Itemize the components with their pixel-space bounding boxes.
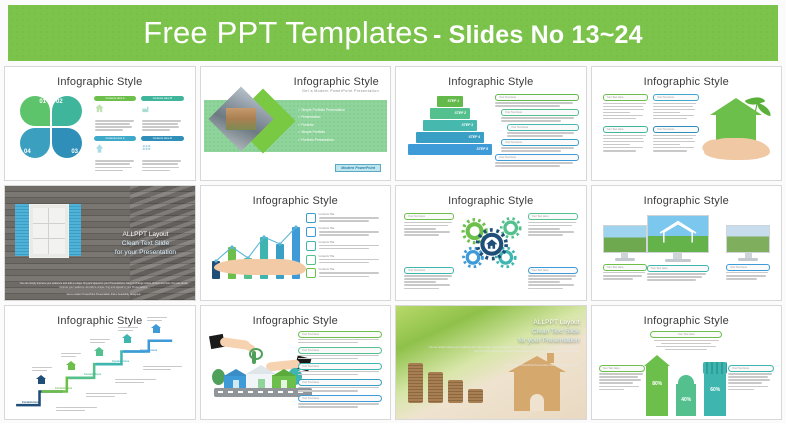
slide-11-overlay-footer: Get a modern PowerPoint Presentation tha… bbox=[426, 364, 580, 368]
pyramid-step-4: STEP 4 bbox=[416, 132, 484, 143]
slide-11-overlay-heading: ALLPPT Layout Clean Text Slide for your … bbox=[470, 318, 580, 345]
row-head: Your Text Here bbox=[501, 109, 579, 116]
pyramid-diagram: STEP 1 STEP 2 STEP 3 STEP 4 STEP 5 bbox=[407, 96, 493, 168]
slide-1-card[interactable]: Contents Here B bbox=[141, 96, 183, 132]
monitor-center[interactable]: Your Text Here bbox=[647, 215, 709, 282]
card-head: Contents Here C bbox=[94, 136, 136, 141]
step-1-body-lines bbox=[56, 407, 100, 413]
hand-with-eco-house bbox=[700, 96, 774, 162]
slide-thumbnail-12[interactable]: Infographic Style Your Text Here 80% 40% bbox=[591, 305, 783, 420]
step-1-label: Contents Here bbox=[22, 401, 39, 404]
quadrant-04-number: 04 bbox=[24, 149, 31, 155]
slide-thumbnail-6[interactable]: Infographic Style bbox=[200, 185, 392, 300]
slide-6-canvas: Infographic Style bbox=[204, 189, 388, 296]
row-head: Contents Title bbox=[319, 227, 383, 230]
window-panes bbox=[33, 208, 65, 254]
checklist-item: ✓ Simple Portfolio bbox=[298, 130, 382, 134]
slide-3-row[interactable]: Your Text Here bbox=[507, 124, 579, 137]
printer-icon bbox=[306, 213, 316, 223]
bar-percent-3: 60% bbox=[704, 387, 726, 393]
card-head: Your Text Here bbox=[528, 267, 578, 274]
chart-icon bbox=[306, 268, 316, 278]
slide-5-canvas: ALLPPT Layout Clean Text Slide for your … bbox=[5, 186, 195, 299]
card-head: Contents Here A bbox=[94, 96, 136, 101]
slide-thumbnail-2[interactable]: Infographic Style Get a Modern PowerPoin… bbox=[200, 66, 392, 181]
row-head: Your Text Here bbox=[298, 395, 382, 402]
slide-6-title: Infographic Style bbox=[204, 195, 388, 207]
slide-10-row[interactable]: Your Text Here bbox=[298, 363, 382, 376]
monitor-left[interactable]: Your Text Here bbox=[603, 225, 647, 281]
slide-thumbnail-8[interactable]: Infographic Style Your Text Here bbox=[591, 185, 783, 300]
pyramid-step-5: STEP 5 bbox=[408, 144, 492, 155]
row-head: Your Text Here bbox=[298, 331, 382, 338]
card-head: Your Text Here bbox=[404, 267, 454, 274]
overlay-line-1: ALLPPT Layout bbox=[470, 318, 580, 327]
card-head: Your Text Here bbox=[653, 126, 699, 133]
step-4-label: Contents Here bbox=[112, 360, 129, 363]
monitor-caption-head: Your Text Here bbox=[647, 265, 709, 272]
card-head: Contents Here B bbox=[141, 96, 183, 101]
card-head: Contents Here D bbox=[141, 136, 183, 141]
row-head: Contents Title bbox=[319, 213, 383, 216]
header-banner: Free PPT Templates - Slides No 13~24 bbox=[8, 5, 778, 61]
row-head: Your Text Here bbox=[507, 124, 579, 131]
slide-4-card[interactable]: Your Text Here bbox=[653, 126, 699, 153]
checklist-item: ✓ Simple Portfolio Presentation bbox=[298, 108, 382, 112]
slide-1-card[interactable]: Contents Here A bbox=[94, 96, 136, 132]
slide-6-row-list: Contents Title Contents Title bbox=[306, 213, 382, 282]
overlay-line-3: for your Presentation bbox=[470, 336, 580, 345]
house-icon-step-1 bbox=[36, 375, 47, 383]
row-head: Your Text Here bbox=[298, 363, 382, 370]
slide-10-row[interactable]: Your Text Here bbox=[298, 347, 382, 360]
row-head: Your Text Here bbox=[501, 139, 579, 146]
slide-4-title: Infographic Style bbox=[595, 76, 779, 88]
factory-icon bbox=[141, 103, 152, 114]
overlay-line-3: for your Presentation bbox=[103, 248, 189, 257]
row-head: Your Text Here bbox=[298, 347, 382, 354]
row-head: Contents Title bbox=[319, 268, 383, 271]
slide-7-card[interactable]: Your Text Here bbox=[528, 213, 578, 237]
country-house-photo bbox=[726, 225, 770, 253]
hands-exchanging-house-key bbox=[208, 331, 312, 405]
slide-7-card[interactable]: Your Text Here bbox=[404, 267, 454, 291]
slide-3-row[interactable]: Your Text Here bbox=[495, 94, 579, 107]
slide-9-canvas: Infographic Style Contents Here Contents… bbox=[8, 309, 192, 416]
slide-thumbnail-7[interactable]: Infographic Style bbox=[395, 185, 587, 300]
quadrant-03: 03 bbox=[52, 128, 82, 158]
window-frame bbox=[29, 204, 69, 258]
monitor-caption-head: Your Text Here bbox=[726, 264, 770, 271]
slide-3-row[interactable]: Your Text Here bbox=[495, 154, 579, 167]
slide-7-canvas: Infographic Style bbox=[399, 189, 583, 296]
checklist-item: ✓ Portfolio bbox=[298, 123, 382, 127]
step-2-caption-lines bbox=[61, 353, 83, 359]
document-icon bbox=[306, 255, 316, 265]
modern-powerpoint-badge: Modern PowerPoint bbox=[335, 164, 381, 172]
card-head: Your Text Here bbox=[603, 94, 649, 101]
row-head: Your Text Here bbox=[495, 94, 579, 101]
slide-10-row-list: Your Text Here Your Text Here Your Text … bbox=[298, 331, 382, 410]
house-shape bbox=[226, 108, 256, 130]
house-roof-icon bbox=[644, 355, 670, 366]
key-bow bbox=[249, 348, 263, 360]
monitor-caption-head: Your Text Here bbox=[603, 264, 647, 271]
slide-3-title: Infographic Style bbox=[399, 76, 583, 88]
house-icon-step-4 bbox=[122, 334, 133, 342]
overlay-line-1: ALLPPT Layout bbox=[103, 230, 189, 239]
card-head: Your Text Here bbox=[404, 213, 454, 220]
monitor-right[interactable]: Your Text Here bbox=[726, 225, 770, 281]
checklist-item: ✓ Portfolio Presentation bbox=[298, 138, 382, 142]
overlay-line-2: Clean Text Slide bbox=[103, 239, 189, 248]
slide-1-card-list: Contents Here A Contents Here B bbox=[94, 96, 184, 173]
white-house-photo bbox=[603, 225, 647, 253]
house-green bbox=[272, 369, 296, 389]
slide-thumbnail-9[interactable]: Infographic Style Contents Here Contents… bbox=[4, 305, 196, 420]
house-icon-step-5 bbox=[151, 324, 162, 332]
house-blue bbox=[224, 369, 248, 389]
pyramid-step-1: STEP 1 bbox=[437, 96, 463, 107]
slide-10-title: Infographic Style bbox=[204, 315, 388, 327]
skyscraper-top-icon bbox=[678, 375, 694, 384]
slide-4-canvas: Infographic Style Your Text Here Your Te… bbox=[595, 70, 779, 177]
house-outline-icon bbox=[648, 216, 708, 252]
slide-2-title: Infographic Style bbox=[269, 76, 379, 88]
top-card-head: Your Text Here bbox=[650, 331, 722, 338]
slide-5-overlay-body: You can simply impress your audience and… bbox=[19, 282, 189, 290]
quadrant-01-number: 01 bbox=[39, 99, 46, 105]
road bbox=[214, 388, 312, 397]
slide-5-overlay-footer: Get a modern PowerPoint Presentation tha… bbox=[19, 293, 189, 297]
slide-thumbnail-5[interactable]: ALLPPT Layout Clean Text Slide for your … bbox=[4, 185, 196, 300]
slide-6-row[interactable]: Contents Title bbox=[306, 227, 382, 237]
slide-thumbnail-1[interactable]: Infographic Style 01 02 04 03 bbox=[4, 66, 196, 181]
slide-2-checklist: ✓ Simple Portfolio Presentation ✓ Presen… bbox=[298, 108, 382, 145]
shop-awning-icon bbox=[703, 362, 727, 374]
row-head: Your Text Here bbox=[298, 379, 382, 386]
quadrant-04: 04 bbox=[20, 128, 50, 158]
slide-8-canvas: Infographic Style Your Text Here bbox=[595, 189, 779, 296]
slide-3-row[interactable]: Your Text Here bbox=[501, 139, 579, 152]
grid-building-icon bbox=[141, 143, 152, 154]
coin-stack bbox=[408, 363, 423, 403]
slide-12-top-card[interactable]: Your Text Here bbox=[650, 331, 722, 352]
checklist-item: ✓ Presentation bbox=[298, 115, 382, 119]
house-icon-step-2 bbox=[66, 361, 77, 369]
house-outline-graphic bbox=[647, 215, 709, 253]
shutter-left bbox=[15, 204, 29, 256]
house-door bbox=[530, 394, 544, 411]
quadrant-diagram: 01 02 04 03 bbox=[20, 96, 82, 158]
bar-shop-60: 60% bbox=[704, 374, 726, 416]
road-dashes bbox=[218, 391, 308, 393]
overlay-line-2: Clean Text Slide bbox=[470, 327, 580, 336]
coin-stack bbox=[448, 380, 463, 403]
bar-percent-1: 80% bbox=[646, 381, 668, 387]
slide-1-card[interactable]: Contents Here D bbox=[141, 136, 183, 172]
slide-10-row[interactable]: Your Text Here bbox=[298, 379, 382, 392]
house-icon bbox=[94, 103, 105, 114]
slide-7-card-list: Your Text Here Your Text Here Your Text … bbox=[399, 189, 583, 296]
slide-thumbnail-4[interactable]: Infographic Style Your Text Here Your Te… bbox=[591, 66, 783, 181]
step-1-caption-lines bbox=[32, 367, 54, 373]
slide-12-right-card[interactable]: Your Text Here bbox=[728, 365, 774, 392]
step-3-body-lines bbox=[115, 379, 159, 385]
bar-percent-2: 40% bbox=[676, 397, 696, 403]
step-3-caption-lines bbox=[90, 339, 112, 345]
slide-2-canvas: Infographic Style Get a Modern PowerPoin… bbox=[204, 70, 388, 177]
banner-title-sub: - Slides No 13~24 bbox=[433, 21, 643, 49]
slide-4-card-list: Your Text Here Your Text Here Your Text … bbox=[603, 94, 699, 153]
bar-skyscraper-40: 40% bbox=[676, 384, 696, 416]
row-head: Contents Title bbox=[319, 241, 383, 244]
open-hand-shape bbox=[214, 259, 306, 275]
slide-12-title: Infographic Style bbox=[595, 315, 779, 327]
slide-4-card[interactable]: Your Text Here bbox=[653, 94, 699, 121]
card-head: Your Text Here bbox=[653, 94, 699, 101]
quadrant-03-number: 03 bbox=[71, 149, 78, 155]
left-card-head: Your Text Here bbox=[599, 365, 645, 372]
pyramid-step-3: STEP 3 bbox=[423, 120, 477, 131]
slide-1-card[interactable]: Contents Here C bbox=[94, 136, 136, 172]
slide-11-canvas: ALLPPT Layout Clean Text Slide for your … bbox=[396, 306, 586, 419]
pyramid-step-2: STEP 2 bbox=[430, 108, 470, 119]
slide-thumbnail-11[interactable]: ALLPPT Layout Clean Text Slide for your … bbox=[395, 305, 587, 420]
slide-7-card[interactable]: Your Text Here bbox=[404, 213, 454, 237]
slide-4-card[interactable]: Your Text Here bbox=[603, 94, 649, 121]
slide-10-canvas: Infographic Style bbox=[204, 309, 388, 416]
step-3-label: Contents Here bbox=[84, 373, 101, 376]
card-head: Your Text Here bbox=[603, 126, 649, 133]
slide-11-overlay-body: You can simply impress your audience and… bbox=[426, 346, 580, 354]
slide-7-card[interactable]: Your Text Here bbox=[528, 267, 578, 291]
clipboard-icon bbox=[306, 241, 316, 251]
slide-2-subtitle: Get a Modern PowerPoint Presentation bbox=[269, 89, 379, 93]
slide-thumbnail-grid: Infographic Style 01 02 04 03 bbox=[4, 66, 782, 420]
right-card-head: Your Text Here bbox=[728, 365, 774, 372]
slide-6-row[interactable]: Contents Title bbox=[306, 241, 382, 251]
slide-1-canvas: Infographic Style 01 02 04 03 bbox=[8, 70, 192, 177]
card-head: Your Text Here bbox=[528, 213, 578, 220]
slide-12-canvas: Infographic Style Your Text Here 80% 40% bbox=[595, 309, 779, 416]
slide-12-left-card[interactable]: Your Text Here bbox=[599, 365, 645, 392]
slide-6-row[interactable]: Contents Title bbox=[306, 213, 382, 223]
building-bar-chart: 80% 40% 60% bbox=[642, 354, 730, 416]
step-4-body-lines bbox=[143, 366, 185, 372]
slide-5-overlay-heading: ALLPPT Layout Clean Text Slide for your … bbox=[103, 230, 189, 257]
slide-4-card[interactable]: Your Text Here bbox=[603, 126, 649, 153]
step-2-body-lines bbox=[86, 393, 130, 399]
quadrant-01: 01 bbox=[20, 96, 50, 126]
banner-title-main: Free PPT Templates bbox=[143, 15, 428, 50]
slide-10-row[interactable]: Your Text Here bbox=[298, 395, 382, 408]
step-5-label: Contents Here bbox=[140, 349, 157, 352]
slide-6-row[interactable]: Contents Title bbox=[306, 255, 382, 265]
page-root: Free PPT Templates - Slides No 13~24 Inf… bbox=[0, 0, 786, 423]
bar-chart-graphic bbox=[210, 221, 314, 279]
quadrant-02-number: 02 bbox=[56, 99, 63, 105]
row-head: Your Text Here bbox=[495, 154, 579, 161]
slide-3-row[interactable]: Your Text Here bbox=[501, 109, 579, 122]
calculator-icon bbox=[306, 227, 316, 237]
slide-thumbnail-10[interactable]: Infographic Style bbox=[200, 305, 392, 420]
slide-8-title: Infographic Style bbox=[595, 195, 779, 207]
step-4-caption-lines bbox=[118, 327, 140, 333]
slide-10-row[interactable]: Your Text Here bbox=[298, 331, 382, 344]
row-head: Contents Title bbox=[319, 255, 383, 258]
arrow-up-icon bbox=[94, 143, 105, 154]
slide-3-row-list: Your Text Here Your Text Here Your Text … bbox=[495, 94, 579, 169]
slide-3-canvas: Infographic Style STEP 1 STEP 2 STEP 3 S… bbox=[399, 70, 583, 177]
slide-6-row[interactable]: Contents Title bbox=[306, 268, 382, 278]
coin-stack bbox=[428, 372, 443, 403]
slide-thumbnail-3[interactable]: Infographic Style STEP 1 STEP 2 STEP 3 S… bbox=[395, 66, 587, 181]
shutter-right bbox=[67, 204, 81, 256]
bar-house-80: 80% bbox=[646, 366, 668, 416]
coin-stack bbox=[468, 389, 483, 403]
banner-title: Free PPT Templates - Slides No 13~24 bbox=[143, 15, 642, 51]
quadrant-02: 02 bbox=[52, 96, 82, 126]
house-icon-step-3 bbox=[94, 347, 105, 355]
step-2-label: Contents Here bbox=[55, 387, 72, 390]
step-5-caption-lines bbox=[147, 317, 169, 323]
slide-1-title: Infographic Style bbox=[8, 76, 192, 88]
